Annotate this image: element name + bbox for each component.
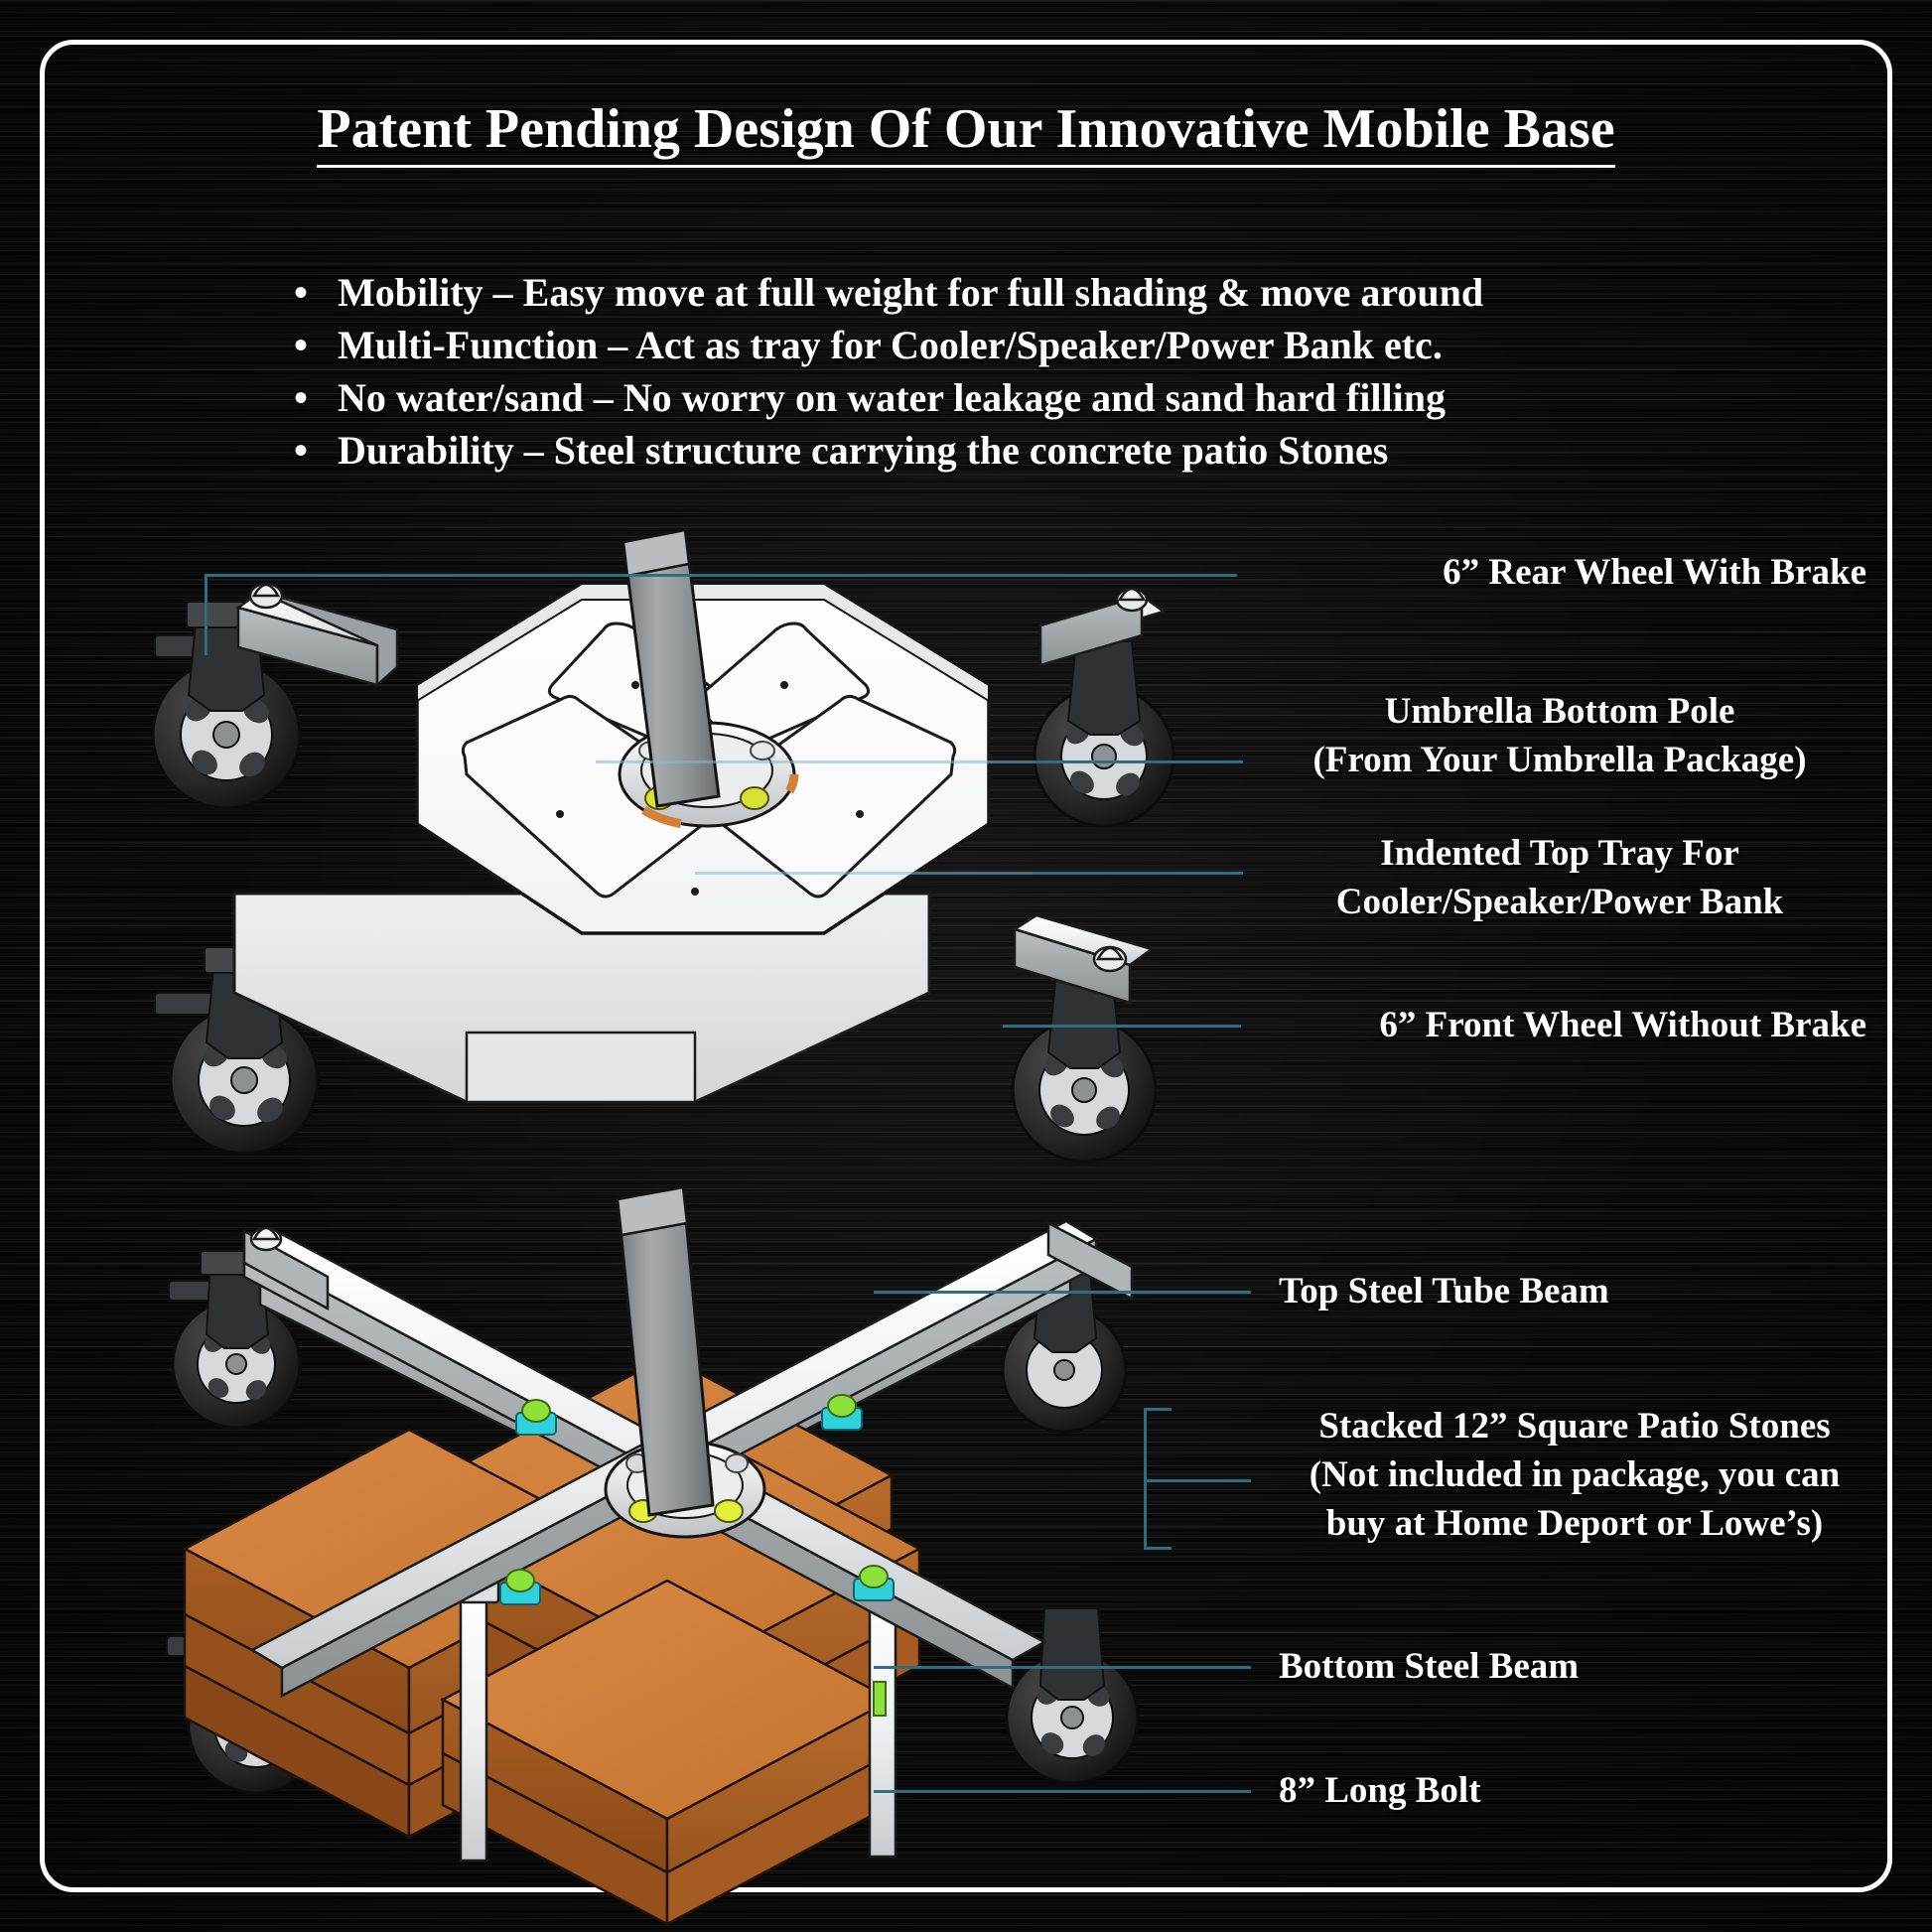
callout-rear-wheel: 6” Rear Wheel With Brake <box>1251 548 1866 597</box>
bullet-marker: • <box>294 266 308 319</box>
bullet-marker: • <box>294 424 308 477</box>
leader-line-rear-wheel <box>205 574 1237 577</box>
bullet-text: Mobility – Easy move at full weight for … <box>338 270 1483 315</box>
bullet-text: Multi-Function – Act as tray for Cooler/… <box>338 323 1443 367</box>
bullet-text: No water/sand – No worry on water leakag… <box>338 375 1446 420</box>
callout-long-bolt: 8” Long Bolt <box>1279 1766 1874 1815</box>
feature-bullet-list: • Mobility – Easy move at full weight fo… <box>286 266 1676 477</box>
callout-line: Cooler/Speaker/Power Bank <box>1247 878 1872 926</box>
leader-line-patio-stones-bracket <box>1144 1408 1147 1549</box>
list-item: • Mobility – Easy move at full weight fo… <box>286 266 1676 319</box>
page-title: Patent Pending Design Of Our Innovative … <box>0 97 1932 161</box>
callout-front-wheel: 6” Front Wheel Without Brake <box>1251 1001 1866 1049</box>
leader-line-patio-stones-bracket-top <box>1144 1408 1172 1411</box>
callout-line: 6” Rear Wheel With Brake <box>1251 548 1866 597</box>
leader-line-indented-tray-pale <box>695 872 1033 875</box>
leader-line-bottom-steel-beam <box>874 1666 1251 1669</box>
callout-line: buy at Home Deport or Lowe’s) <box>1247 1499 1902 1548</box>
leader-line-long-bolt <box>874 1790 1251 1793</box>
list-item: • Multi-Function – Act as tray for Coole… <box>286 319 1676 371</box>
leader-line-rear-wheel-vertical <box>205 574 207 655</box>
callout-patio-stones: Stacked 12” Square Patio Stones (Not inc… <box>1247 1402 1902 1548</box>
leader-line-patio-stones <box>1144 1479 1251 1482</box>
callout-indented-tray: Indented Top Tray For Cooler/Speaker/Pow… <box>1247 829 1872 926</box>
callout-umbrella-pole: Umbrella Bottom Pole (From Your Umbrella… <box>1247 687 1872 784</box>
callout-line: Indented Top Tray For <box>1247 829 1872 878</box>
leader-line-umbrella-pole <box>1033 760 1243 763</box>
callout-line: Stacked 12” Square Patio Stones <box>1247 1402 1902 1450</box>
leader-line-front-wheel <box>1003 1025 1241 1028</box>
bullet-marker: • <box>294 319 308 371</box>
bullet-marker: • <box>294 371 308 424</box>
leader-line-umbrella-pole-pale <box>596 760 1033 763</box>
callout-top-steel-tube-beam: Top Steel Tube Beam <box>1279 1267 1874 1315</box>
leader-line-indented-tray <box>1033 872 1243 875</box>
callout-line: Top Steel Tube Beam <box>1279 1267 1874 1315</box>
list-item: • Durability – Steel structure carrying … <box>286 424 1676 477</box>
callout-line: (Not included in package, you can <box>1247 1450 1902 1499</box>
callout-line: (From Your Umbrella Package) <box>1247 736 1872 784</box>
bullet-text: Durability – Steel structure carrying th… <box>338 428 1388 473</box>
callout-line: 8” Long Bolt <box>1279 1766 1874 1815</box>
callout-line: 6” Front Wheel Without Brake <box>1251 1001 1866 1049</box>
leader-line-top-steel-tube-beam <box>874 1291 1251 1294</box>
callout-bottom-steel-beam: Bottom Steel Beam <box>1279 1642 1874 1691</box>
callout-line: Umbrella Bottom Pole <box>1247 687 1872 736</box>
leader-line-patio-stones-bracket-bottom <box>1144 1547 1172 1550</box>
callout-line: Bottom Steel Beam <box>1279 1642 1874 1691</box>
list-item: • No water/sand – No worry on water leak… <box>286 371 1676 424</box>
